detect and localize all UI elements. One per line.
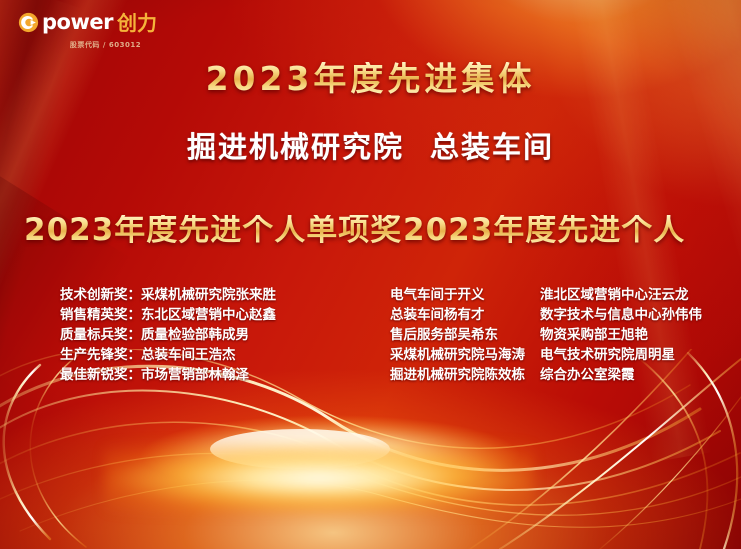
list-item: 质量标兵奖：质量检验部韩成男 bbox=[60, 325, 320, 345]
individual-award-list: 电气车间于开义 淮北区域营销中心汪云龙 总装车间杨有才 数字技术与信息中心孙伟伟… bbox=[390, 285, 720, 385]
individual-name-right: 物资采购部王旭艳 bbox=[540, 325, 648, 345]
list-item: 售后服务部吴希东 物资采购部王旭艳 bbox=[390, 325, 720, 345]
collective-winner-1: 掘进机械研究院 bbox=[187, 130, 404, 164]
ribbon-hotspot bbox=[104, 443, 534, 513]
individual-name-left: 电气车间于开义 bbox=[390, 285, 540, 305]
individual-name-left: 采煤机械研究院马海涛 bbox=[390, 345, 540, 365]
collective-winners: 掘进机械研究院总装车间 bbox=[0, 133, 741, 162]
individual-name-left: 总装车间杨有才 bbox=[390, 305, 540, 325]
list-item: 总装车间杨有才 数字技术与信息中心孙伟伟 bbox=[390, 305, 720, 325]
power-c-logo-icon bbox=[18, 12, 39, 33]
section-heading-individuals: 2023年度先进个人 bbox=[403, 215, 685, 246]
page-title: 2023年度先进集体 bbox=[0, 62, 741, 95]
company-logo[interactable]: power 创力 股票代码 / 603012 bbox=[18, 12, 193, 50]
individual-name-right: 数字技术与信息中心孙伟伟 bbox=[540, 305, 702, 325]
list-item: 掘进机械研究院陈效栋 综合办公室梁霞 bbox=[390, 365, 720, 385]
collective-winner-2: 总装车间 bbox=[430, 130, 554, 164]
stock-code-label: 股票代码 / 603012 bbox=[18, 40, 193, 50]
list-item: 采煤机械研究院马海涛 电气技术研究院周明星 bbox=[390, 345, 720, 365]
individual-name-right: 综合办公室梁霞 bbox=[540, 365, 635, 385]
list-item: 最佳新锐奖：市场营销部林翰泽 bbox=[60, 365, 320, 385]
list-item: 销售精英奖：东北区域营销中心赵鑫 bbox=[60, 305, 320, 325]
list-item: 电气车间于开义 淮北区域营销中心汪云龙 bbox=[390, 285, 720, 305]
individual-name-left: 售后服务部吴希东 bbox=[390, 325, 540, 345]
list-item: 生产先锋奖：总装车间王浩杰 bbox=[60, 345, 320, 365]
individual-name-left: 掘进机械研究院陈效栋 bbox=[390, 365, 540, 385]
logo-wordmark: power bbox=[42, 12, 113, 33]
award-poster: power 创力 股票代码 / 603012 2023年度先进集体 掘进机械研究… bbox=[0, 0, 741, 549]
logo-wordmark-cn: 创力 bbox=[117, 13, 157, 33]
individual-name-right: 淮北区域营销中心汪云龙 bbox=[540, 285, 689, 305]
list-item: 技术创新奖：采煤机械研究院张来胜 bbox=[60, 285, 320, 305]
section-heading-single-awards: 2023年度先进个人单项奖 bbox=[24, 215, 402, 246]
individual-name-right: 电气技术研究院周明星 bbox=[540, 345, 675, 365]
single-award-list: 技术创新奖：采煤机械研究院张来胜 销售精英奖：东北区域营销中心赵鑫 质量标兵奖：… bbox=[60, 285, 320, 385]
